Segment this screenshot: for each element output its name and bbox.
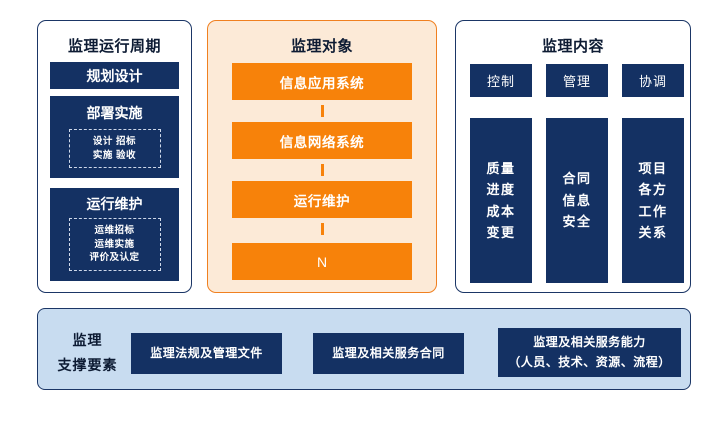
column-item: 进度 — [486, 179, 515, 200]
column-box-coordination-items[interactable]: 项目 各方 工作 关系 — [622, 118, 684, 283]
connector-dash — [321, 164, 324, 176]
connector-dash — [321, 223, 324, 235]
column-item: 成本 — [486, 201, 515, 222]
header-box-management[interactable]: 管理 — [546, 64, 608, 97]
column-item: 关系 — [638, 222, 667, 243]
box-operation-maintenance-object[interactable]: 运行维护 — [232, 181, 412, 218]
box-deployment-steps: 设计 招标 实施 验收 — [69, 129, 161, 168]
panel-lifecycle-title: 监理运行周期 — [38, 35, 191, 56]
column-item: 质量 — [486, 158, 515, 179]
connector-dash — [321, 105, 324, 117]
column-box-control-items[interactable]: 质量 进度 成本 变更 — [470, 118, 532, 283]
box-operations-steps: 运维招标 运维实施 评价及认定 — [69, 218, 161, 271]
column-item: 信息 — [562, 190, 591, 211]
box-operations-maintenance-title: 运行维护 — [50, 194, 179, 214]
diagram-canvas: 监理运行周期 规划设计 部署实施 设计 招标 实施 验收 运行维护 运维招标 运… — [0, 0, 726, 421]
header-box-control[interactable]: 控制 — [470, 64, 532, 97]
support-box-regulations[interactable]: 监理法规及管理文件 — [131, 333, 282, 374]
deployment-step-line: 设计 招标 — [93, 135, 136, 149]
panel-objects-title: 监理对象 — [208, 35, 436, 56]
box-operations-maintenance[interactable]: 运行维护 运维招标 运维实施 评价及认定 — [50, 188, 179, 281]
box-information-application-system[interactable]: 信息应用系统 — [232, 63, 412, 100]
support-box-line: 监理及相关服务能力 — [533, 333, 646, 352]
box-planning-design[interactable]: 规划设计 — [50, 62, 179, 89]
support-box-line: 监理法规及管理文件 — [150, 344, 263, 363]
box-planning-design-title: 规划设计 — [50, 66, 179, 86]
operations-step-line: 运维招标 — [94, 224, 134, 238]
deployment-step-line: 实施 验收 — [93, 149, 136, 163]
support-box-line: （人员、技术、资源、流程） — [508, 353, 671, 372]
support-box-service-contract[interactable]: 监理及相关服务合同 — [313, 333, 464, 374]
box-information-application-system-label: 信息应用系统 — [280, 72, 365, 92]
box-deployment[interactable]: 部署实施 设计 招标 实施 验收 — [50, 96, 179, 178]
header-box-management-label: 管理 — [563, 71, 591, 90]
column-item: 各方 — [638, 179, 667, 200]
box-information-network-system-label: 信息网络系统 — [280, 131, 365, 151]
box-deployment-title: 部署实施 — [50, 103, 179, 123]
header-box-coordination-label: 协调 — [639, 71, 667, 90]
panel-contents-title: 监理内容 — [456, 35, 690, 56]
column-item: 变更 — [486, 222, 515, 243]
operations-step-line: 运维实施 — [94, 238, 134, 252]
column-box-management-items[interactable]: 合同 信息 安全 — [546, 118, 608, 283]
column-item: 项目 — [638, 158, 667, 179]
support-label-line: 监理 — [45, 328, 130, 353]
column-item: 工作 — [638, 201, 667, 222]
operations-step-line: 评价及认定 — [89, 251, 139, 265]
column-item: 合同 — [562, 168, 591, 189]
column-item: 安全 — [562, 211, 591, 232]
header-box-control-label: 控制 — [487, 71, 515, 90]
support-elements-label: 监理 支撑要素 — [45, 328, 130, 377]
box-information-network-system[interactable]: 信息网络系统 — [232, 122, 412, 159]
box-operation-maintenance-object-label: 运行维护 — [294, 190, 350, 210]
header-box-coordination[interactable]: 协调 — [622, 64, 684, 97]
support-label-line: 支撑要素 — [45, 353, 130, 378]
box-object-n-label: N — [317, 254, 327, 270]
box-object-n[interactable]: N — [232, 243, 412, 280]
support-box-line: 监理及相关服务合同 — [332, 344, 445, 363]
support-box-service-capability[interactable]: 监理及相关服务能力 （人员、技术、资源、流程） — [498, 328, 681, 377]
